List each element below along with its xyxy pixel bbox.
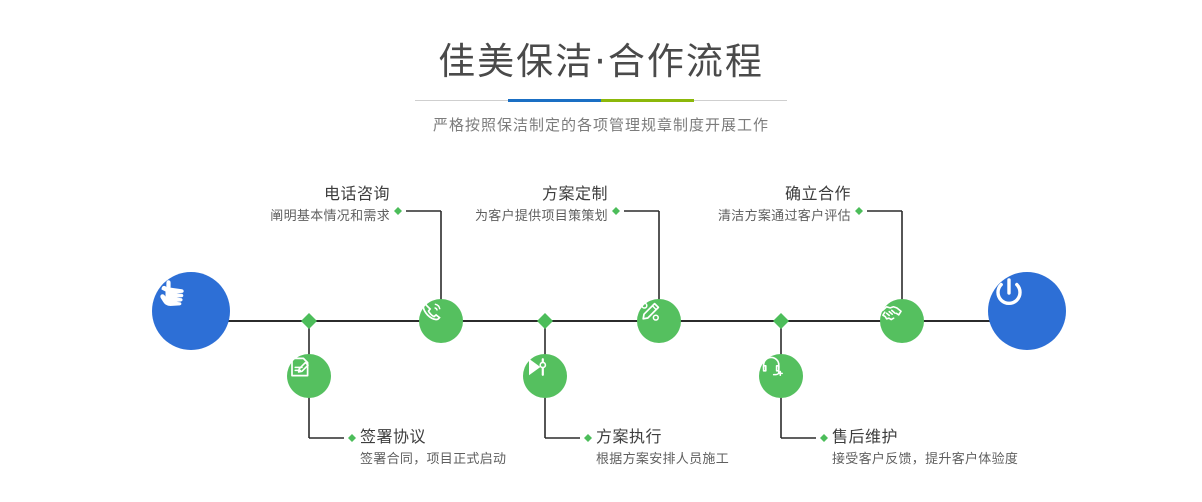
step-title: 售后维护 [832, 427, 1132, 447]
step-label-plan-design: 方案定制 为客户提供项目策策划 [336, 184, 608, 226]
step-title: 确立合作 [579, 184, 851, 204]
page-header: 佳美保洁·合作流程 严格按照保洁制定的各项管理规章制度开展工作 [0, 0, 1202, 135]
divider-segment-green [601, 99, 694, 102]
flow-start-endpoint[interactable] [152, 272, 230, 350]
step-label-cooperation: 确立合作 清洁方案通过客户评估 [579, 184, 851, 226]
node-after-sales[interactable] [759, 354, 803, 398]
step-title: 方案定制 [336, 184, 608, 204]
page-subtitle: 严格按照保洁制定的各项管理规章制度开展工作 [0, 102, 1202, 135]
process-flow-diagram: 电话咨询 阐明基本情况和需求 方案定制 为客户提供项目策策划 确立合作 清洁方案… [0, 150, 1202, 502]
title-divider [415, 99, 787, 102]
node-phone-call[interactable] [419, 299, 463, 343]
node-plan-design[interactable] [637, 299, 681, 343]
flow-end-endpoint[interactable] [988, 272, 1066, 350]
node-plan-execute[interactable] [523, 354, 567, 398]
step-label-after-sales: 售后维护 接受客户反馈，提升客户体验度 [832, 427, 1132, 469]
divider-segment-blue [508, 99, 601, 102]
step-desc: 接受客户反馈，提升客户体验度 [832, 447, 1132, 469]
step-desc: 为客户提供项目策策划 [336, 204, 608, 226]
node-cooperation[interactable] [880, 299, 924, 343]
node-sign-agreement[interactable] [287, 354, 331, 398]
step-desc: 清洁方案通过客户评估 [579, 204, 851, 226]
page-title: 佳美保洁·合作流程 [0, 0, 1202, 85]
